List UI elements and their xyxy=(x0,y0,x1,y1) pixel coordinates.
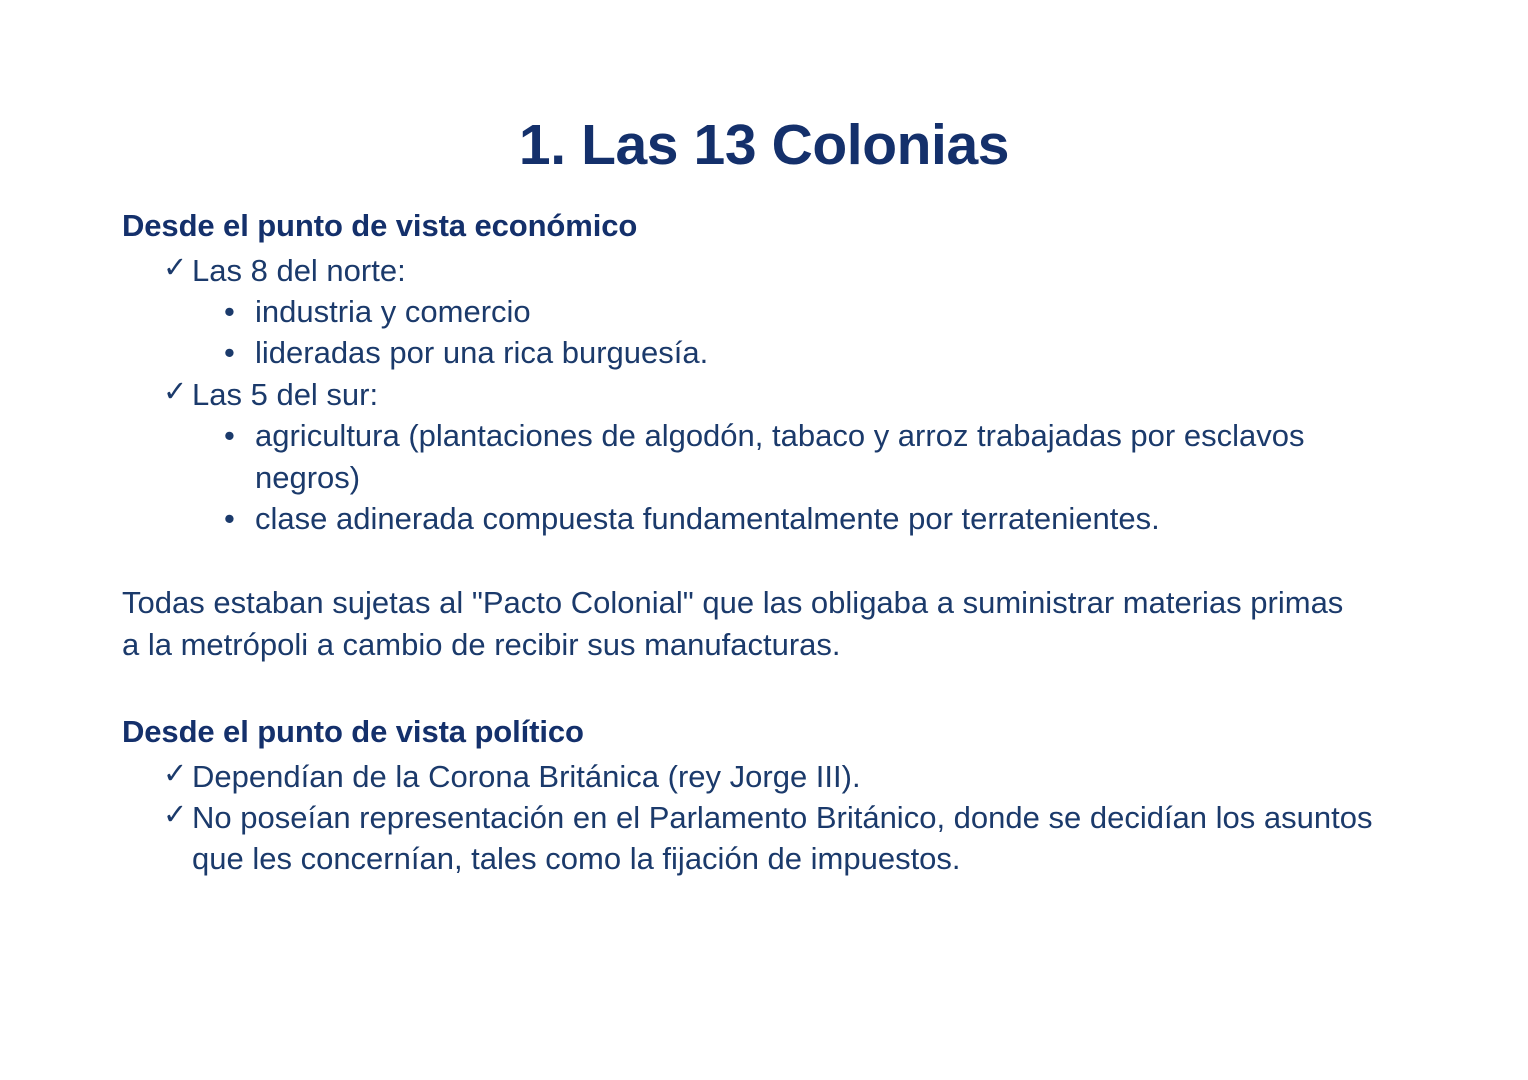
check-list-economico: ✓ Las 8 del norte: • industria y comerci… xyxy=(122,250,1382,540)
dot-list-norte: • industria y comercio • lideradas por u… xyxy=(192,291,1382,374)
list-item-label: lideradas por una rica burguesía. xyxy=(255,335,708,370)
slide-canvas: 1. Las 13 Colonias Desde el punto de vis… xyxy=(0,0,1528,1080)
bullet-dot-icon: • xyxy=(224,291,235,333)
list-item-label: Dependían de la Corona Británica (rey Jo… xyxy=(192,759,861,794)
list-item: • agricultura (plantaciones de algodón, … xyxy=(222,415,1382,498)
list-item-label: Las 5 del sur: xyxy=(192,377,378,412)
dot-list-sur: • agricultura (plantaciones de algodón, … xyxy=(192,415,1382,540)
page-title: 1. Las 13 Colonias xyxy=(0,116,1528,176)
list-item: ✓ Las 5 del sur: • agricultura (plantaci… xyxy=(163,374,1382,540)
slide-body: Desde el punto de vista económico ✓ Las … xyxy=(122,206,1382,879)
section-heading-politico: Desde el punto de vista político xyxy=(122,712,1382,752)
section-politico: Desde el punto de vista político ✓ Depen… xyxy=(122,712,1382,879)
list-item-label: Las 8 del norte: xyxy=(192,253,406,288)
bullet-dot-icon: • xyxy=(224,332,235,374)
list-item-label: industria y comercio xyxy=(255,294,531,329)
list-item-label: clase adinerada compuesta fundamentalmen… xyxy=(255,501,1160,536)
section-economico: Desde el punto de vista económico ✓ Las … xyxy=(122,206,1382,540)
list-item: • clase adinerada compuesta fundamentalm… xyxy=(222,498,1382,540)
section-heading-economico: Desde el punto de vista económico xyxy=(122,206,1382,246)
bullet-dot-icon: • xyxy=(224,498,235,540)
bullet-dot-icon: • xyxy=(224,415,235,457)
check-icon: ✓ xyxy=(163,249,187,288)
body-paragraph-pacto-colonial: Todas estaban sujetas al "Pacto Colonial… xyxy=(122,582,1367,666)
list-item-label: agricultura (plantaciones de algodón, ta… xyxy=(255,418,1304,495)
list-item: ✓ Dependían de la Corona Británica (rey … xyxy=(163,756,1382,797)
check-list-politico: ✓ Dependían de la Corona Británica (rey … xyxy=(122,756,1382,880)
list-item: ✓ No poseían representación en el Parlam… xyxy=(163,797,1382,879)
list-item: • lideradas por una rica burguesía. xyxy=(222,332,1382,374)
check-icon: ✓ xyxy=(163,373,187,412)
check-icon: ✓ xyxy=(163,755,187,794)
list-item: • industria y comercio xyxy=(222,291,1382,333)
list-item: ✓ Las 8 del norte: • industria y comerci… xyxy=(163,250,1382,374)
spacer xyxy=(122,540,1382,582)
check-icon: ✓ xyxy=(163,796,187,835)
list-item-label: No poseían representación en el Parlamen… xyxy=(192,800,1372,876)
spacer xyxy=(122,666,1382,712)
